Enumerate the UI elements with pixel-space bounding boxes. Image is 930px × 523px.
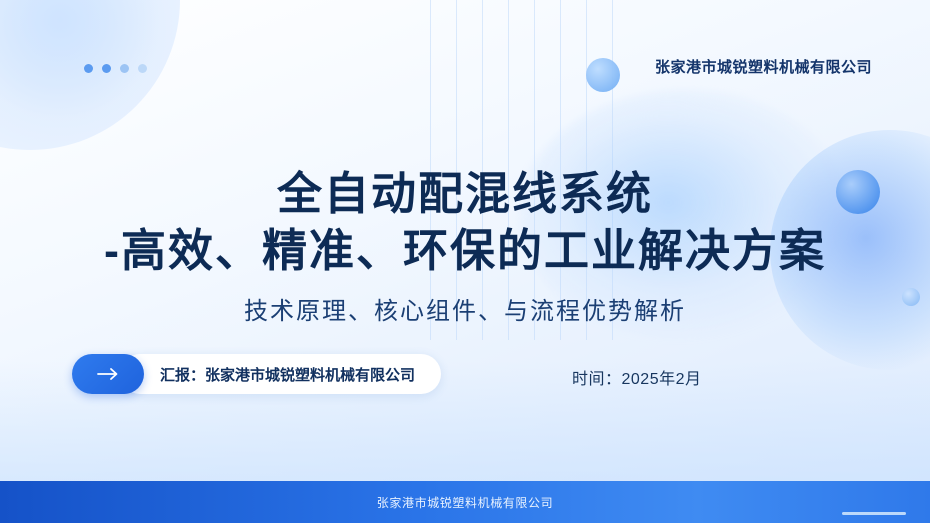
company-name-header: 张家港市城锐塑料机械有限公司 xyxy=(655,56,872,77)
page-title-line-1: 全自动配混线系统 xyxy=(0,168,930,220)
pager-dot-3 xyxy=(120,64,129,73)
pager-dots xyxy=(84,64,147,73)
slide-canvas: 张家港市城锐塑料机械有限公司 全自动配混线系统 -高效、精准、环保的工业解决方案… xyxy=(0,0,930,523)
pager-dot-1 xyxy=(84,64,93,73)
presenter-block: 汇报：张家港市城锐塑料机械有限公司 xyxy=(72,354,441,394)
footer-accent-line xyxy=(842,512,906,515)
title-block: 全自动配混线系统 -高效、精准、环保的工业解决方案 技术原理、核心组件、与流程优… xyxy=(0,168,930,326)
footer-bar: 张家港市城锐塑料机械有限公司 xyxy=(0,481,930,523)
pager-dot-4 xyxy=(138,64,147,73)
decorative-blob-top-left-inner xyxy=(0,0,160,120)
arrow-right-button[interactable] xyxy=(72,354,144,394)
arrow-right-icon xyxy=(97,367,119,381)
pager-dot-2 xyxy=(102,64,111,73)
presenter-label: 汇报：张家港市城锐塑料机械有限公司 xyxy=(120,354,441,394)
decorative-circle-small-top xyxy=(586,58,620,92)
page-subtitle: 技术原理、核心组件、与流程优势解析 xyxy=(0,291,930,326)
page-title-line-2: -高效、精准、环保的工业解决方案 xyxy=(0,224,930,277)
date-label: 时间：2025年2月 xyxy=(572,365,702,389)
footer-company-name: 张家港市城锐塑料机械有限公司 xyxy=(377,494,553,511)
decorative-blob-top-left xyxy=(0,0,180,150)
